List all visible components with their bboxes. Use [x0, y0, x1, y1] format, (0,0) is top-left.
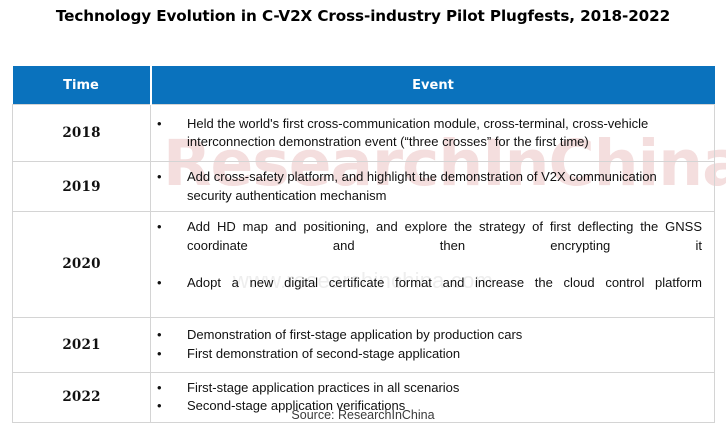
- event-bullet-list: •Add cross-safety platform, and highligh…: [151, 168, 706, 205]
- table-row: 2018•Held the world's first cross-commun…: [13, 105, 715, 162]
- event-bullet-list: •Add HD map and positioning, and explore…: [151, 218, 706, 311]
- event-bullet-item: •Demonstration of first-stage applicatio…: [151, 326, 706, 345]
- table-container: Time Event 2018•Held the world's first c…: [12, 66, 714, 423]
- table-row: 2019•Add cross-safety platform, and high…: [13, 162, 715, 212]
- event-text: Demonstration of first-stage application…: [187, 326, 702, 345]
- bullet-icon: •: [157, 115, 165, 134]
- column-header-event: Event: [151, 66, 715, 105]
- event-bullet-item: •Adopt a new digital certificate format …: [151, 274, 706, 311]
- event-text: Held the world's first cross-communicati…: [187, 115, 702, 152]
- event-bullet-item: •Add HD map and positioning, and explore…: [151, 218, 706, 274]
- event-bullet-list: •Demonstration of first-stage applicatio…: [151, 326, 706, 363]
- bullet-icon: •: [157, 326, 165, 345]
- technology-evolution-table: Time Event 2018•Held the world's first c…: [12, 66, 715, 423]
- event-text: Add cross-safety platform, and highlight…: [187, 168, 702, 205]
- page-title: Technology Evolution in C-V2X Cross-indu…: [26, 6, 700, 27]
- table-header: Time Event: [13, 66, 715, 105]
- bullet-icon: •: [157, 379, 165, 398]
- event-bullet-item: •Add cross-safety platform, and highligh…: [151, 168, 706, 205]
- event-text: Adopt a new digital certificate format a…: [187, 274, 702, 311]
- event-text: First-stage application practices in all…: [187, 379, 702, 398]
- event-text: First demonstration of second-stage appl…: [187, 345, 702, 364]
- event-bullet-item: •Held the world's first cross-communicat…: [151, 115, 706, 152]
- bullet-icon: •: [157, 274, 165, 293]
- cell-event: •Add HD map and positioning, and explore…: [151, 212, 715, 318]
- event-text: Add HD map and positioning, and explore …: [187, 218, 702, 274]
- bullet-icon: •: [157, 218, 165, 237]
- cell-event: •Demonstration of first-stage applicatio…: [151, 317, 715, 372]
- bullet-icon: •: [157, 345, 165, 364]
- cell-time: 2021: [13, 317, 151, 372]
- cell-time: 2020: [13, 212, 151, 318]
- table-body: 2018•Held the world's first cross-commun…: [13, 105, 715, 423]
- cell-event: •Held the world's first cross-communicat…: [151, 105, 715, 162]
- event-bullet-item: •First-stage application practices in al…: [151, 379, 706, 398]
- cell-time: 2018: [13, 105, 151, 162]
- column-header-time: Time: [13, 66, 151, 105]
- table-row: 2020•Add HD map and positioning, and exp…: [13, 212, 715, 318]
- source-caption: Source: ResearchInChina: [12, 408, 714, 422]
- table-row: 2021•Demonstration of first-stage applic…: [13, 317, 715, 372]
- cell-event: •Add cross-safety platform, and highligh…: [151, 162, 715, 212]
- event-bullet-list: •Held the world's first cross-communicat…: [151, 115, 706, 152]
- table-header-row: Time Event: [13, 66, 715, 105]
- event-bullet-item: •First demonstration of second-stage app…: [151, 345, 706, 364]
- infographic-table-page: ResearchInChina www.researchinchina.com …: [0, 0, 726, 435]
- bullet-icon: •: [157, 168, 165, 187]
- cell-time: 2019: [13, 162, 151, 212]
